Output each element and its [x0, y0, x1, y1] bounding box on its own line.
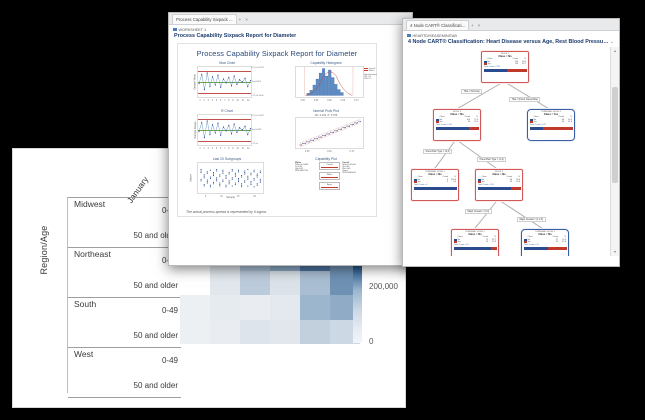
- worksheet-icon: [407, 34, 411, 38]
- x-tick-labels: 0.500.600.70: [296, 151, 363, 153]
- x-tick: 6: [220, 148, 221, 150]
- bar-segment-yes: [511, 187, 521, 191]
- node-distribution-bar: [414, 187, 457, 191]
- plot-area: Sample Range123456789101112UCL=0.0947R=0…: [197, 114, 252, 146]
- control-limit: LCL=0: [252, 143, 264, 145]
- tree-edge: [498, 199, 545, 230]
- control-limit: UCL=0.6787: [252, 67, 264, 69]
- node-distribution-bar: [436, 127, 479, 131]
- x-tick: 11: [242, 148, 244, 150]
- x-tick-labels: 123456789101112: [198, 148, 251, 150]
- x-tick: 15: [237, 196, 240, 198]
- control-limit: LCL=0.5000: [252, 95, 264, 97]
- bar-segment-yes: [491, 247, 496, 251]
- age-label-older: 50 and older: [134, 331, 178, 340]
- window-process-capability[interactable]: Process Capability Sixpack ... + × WORKS…: [168, 12, 413, 266]
- region-label: Midwest: [74, 199, 105, 209]
- control-limit: X=0.6000: [252, 81, 264, 83]
- heatmap-row-group-west: West0-4950 and older: [68, 347, 181, 398]
- heatmap-row-group-south: South0-4950 and older: [68, 297, 181, 347]
- x-tick: 2: [204, 148, 205, 150]
- node-total-count: Total Count = 142: [528, 124, 574, 126]
- heatmap-cell[interactable]: [180, 320, 210, 345]
- bar-segment-yes: [469, 127, 478, 131]
- control-limit: R=0.0448: [252, 129, 264, 131]
- bar-line: [321, 167, 338, 168]
- heatmap-y-axis-label: Region/Age: [39, 205, 49, 295]
- new-tab-button[interactable]: +: [237, 15, 244, 24]
- x-tick: 0.65: [341, 100, 345, 102]
- capability-report-card: Process Capability Sixpack Report for Di…: [177, 43, 377, 217]
- panel-title: Last 20 Subgroups: [188, 157, 266, 161]
- x-tick: 7: [224, 148, 225, 150]
- heatmap-cell[interactable]: [270, 320, 300, 345]
- plot-area: Sample Mean123456789101112UCL=0.6787X=0.…: [197, 66, 252, 98]
- node-class-table: ClassCount%No15054.3Yes12645.7: [482, 58, 528, 66]
- bar-label: Specs: [320, 184, 339, 186]
- worksheet-label: HEARTDISEASEMINITAB: [413, 34, 457, 38]
- heatmap-cell[interactable]: [240, 320, 270, 345]
- x-tick: 1: [199, 100, 200, 102]
- bar-segment-no: [484, 69, 507, 73]
- node-total-count: Total Count = 6: [412, 184, 458, 186]
- capability-bar-group: OverallWithinSpecs: [319, 162, 341, 192]
- x-tick: 5: [216, 148, 217, 150]
- x-tick: 3: [208, 148, 209, 150]
- cart-split-label: Chest Pain Type = (1,4): [477, 157, 506, 162]
- cart-header: 4 Node CART® Classification: Heart Disea…: [403, 39, 619, 47]
- tree-edge: [456, 81, 504, 110]
- heatmap-cell[interactable]: [300, 320, 330, 345]
- x-tick: 10: [220, 196, 223, 198]
- x-tick: 11: [242, 100, 244, 102]
- heatmap-cell[interactable]: [270, 271, 300, 296]
- node-distribution-bar: [484, 69, 527, 73]
- node-distribution-bar: [530, 127, 573, 131]
- scrollbar-thumb[interactable]: [612, 87, 618, 183]
- capability-bar-row: Overall: [319, 162, 341, 170]
- x-tick: 20: [253, 196, 256, 198]
- x-tick-labels: 0.500.550.600.650.70: [296, 100, 363, 102]
- panel-title: Normal Prob Plot: [286, 109, 366, 113]
- spec-row: USL 0.7: [364, 78, 378, 80]
- bar-line: [321, 177, 338, 178]
- bar-segment-yes: [507, 69, 527, 73]
- capability-panel-r-chart: R ChartSample Range123456789101112UCL=0.…: [188, 109, 266, 146]
- heatmap-colorbar: [353, 261, 362, 343]
- legend-entry: Within: [364, 70, 378, 72]
- node-distribution-bar: [454, 247, 497, 251]
- cart-worksheet-row: HEARTDISEASEMINITAB: [403, 31, 619, 39]
- heatmap-cell[interactable]: [210, 271, 240, 296]
- control-limit: UCL=0.0947: [252, 115, 264, 117]
- x-tick: 12: [247, 100, 250, 102]
- y-axis-label: Sample Range: [194, 121, 197, 138]
- heatmap-cell[interactable]: [300, 271, 330, 296]
- heatmap-cell[interactable]: [270, 295, 300, 320]
- cart-vertical-scrollbar[interactable]: ▴ ▾: [610, 47, 619, 256]
- node-class-table: ClassCount%No2757.4Yes2042.6: [522, 236, 568, 244]
- bar-segment-no: [524, 247, 549, 251]
- cart-node[interactable]: NODE 1Class = NoClassCount%No15054.3Yes1…: [481, 51, 529, 83]
- colorbar-high-label: 200,000: [369, 282, 398, 291]
- table-row: PPM 50063.06: [342, 172, 364, 174]
- cart-split-label: Major Vessels = (3,4): [465, 209, 492, 214]
- cart-header-title: 4 Node CART® Classification: Heart Disea…: [408, 39, 610, 45]
- scroll-down-arrow-icon[interactable]: ▾: [611, 248, 619, 256]
- scatter-series: [198, 163, 263, 193]
- x-tick: 0.55: [314, 100, 318, 102]
- x-tick: 10: [236, 148, 239, 150]
- probability-plot-series: [296, 118, 363, 148]
- age-label-older: 50 and older: [134, 381, 178, 390]
- close-tab-button[interactable]: ×: [476, 21, 483, 30]
- plot-area: 0.500.600.70: [295, 117, 364, 149]
- x-tick: 5: [205, 196, 206, 198]
- cart-split-label: Thal = (Normal): [461, 89, 482, 94]
- cart-split-label: Thal = (Fixed, Reversible): [509, 97, 540, 102]
- x-tick: 2: [204, 100, 205, 102]
- x-tick: 9: [232, 148, 233, 150]
- x-tick: 1: [199, 148, 200, 150]
- capability-header-title: Process Capability Sixpack Report for Di…: [174, 33, 296, 39]
- x-tick-labels: 5101520: [198, 196, 263, 198]
- control-chart-series: [198, 115, 251, 145]
- cart-node[interactable]: NODE 3Class = NoClassCount%No9876.6Yes30…: [475, 169, 523, 201]
- table-row: PPM 46375.41: [295, 170, 317, 172]
- cart-node[interactable]: TERMINAL NODE 1Class = NoClassCount%No61…: [411, 169, 459, 201]
- x-tick: 0.70: [350, 151, 354, 153]
- cart-tab-bar[interactable]: 4 Node CART® Classificati... + ×: [403, 19, 619, 31]
- node-total-count: Total Count = 81: [452, 244, 498, 246]
- bar-line: [321, 187, 338, 188]
- heatmap-cell[interactable]: [180, 271, 210, 296]
- region-label: Northeast: [74, 249, 111, 259]
- capability-bar-row: Specs: [319, 182, 341, 190]
- x-tick: 12: [247, 148, 250, 150]
- cart-body: NODE 1Class = NoClassCount%No15054.3Yes1…: [403, 47, 619, 256]
- capability-tab-bar[interactable]: Process Capability Sixpack ... + ×: [169, 13, 412, 25]
- x-tick: 0.60: [327, 100, 331, 102]
- cart-node[interactable]: TERMINAL NODE 2Class = NoClassCount%No71…: [451, 229, 499, 256]
- tab-process-capability[interactable]: Process Capability Sixpack ...: [172, 14, 237, 24]
- x-tick: 0.50: [300, 100, 304, 102]
- node-class-table: ClassCount%No7187.7Yes1012.3: [452, 236, 498, 244]
- capability-panel-capability-histogram: Capability Histogram0.500.550.600.650.70…: [286, 61, 366, 98]
- plot-area: 0.500.550.600.650.70 Overall WithinSpeci…: [295, 66, 364, 98]
- node-total-count: Total Count = 276: [482, 66, 528, 68]
- bar-segment-yes: [543, 127, 572, 131]
- x-tick-labels: 123456789101112: [198, 100, 251, 102]
- x-tick: 7: [224, 100, 225, 102]
- cart-node[interactable]: TERMINAL NODE 3Class = NoClassCount%No27…: [521, 229, 569, 256]
- node-distribution-bar: [524, 247, 567, 251]
- control-chart-series: [198, 67, 251, 97]
- new-tab-button[interactable]: +: [469, 21, 476, 30]
- x-tick: 8: [228, 100, 229, 102]
- heatmap-cell[interactable]: [210, 320, 240, 345]
- bar-segment-yes: [548, 247, 566, 251]
- age-label-young: 0-49: [162, 306, 178, 315]
- cart-split-label: Chest Pain Type = (2,3): [423, 149, 452, 154]
- control-limit-labels: UCL=0.0947R=0.0448LCL=0: [252, 115, 264, 145]
- capability-worksheet-row: WORKSHEET 1: [169, 25, 412, 33]
- cart-node[interactable]: NODE 2Class = NoClassCount%No10477.6Yes3…: [433, 109, 481, 141]
- heatmap-row-axis: Midwest0-4950 and olderNortheast0-4950 a…: [67, 197, 181, 393]
- heatmap-row-group-midwest: Midwest0-4950 and older: [68, 197, 181, 247]
- bar-segment-no: [414, 187, 457, 191]
- capability-header: Process Capability Sixpack Report for Di…: [169, 33, 412, 41]
- capability-body: Process Capability Sixpack Report for Di…: [169, 41, 412, 255]
- node-total-count: Total Count = 128: [476, 184, 522, 186]
- capability-plot-tables: WithinStDev 0.01043Cp 0.80Cpk 0.61PPM 46…: [295, 162, 364, 192]
- panel-title: Xbar Chart: [188, 61, 266, 65]
- control-limit-labels: UCL=0.6787X=0.6000LCL=0.5000: [252, 67, 264, 97]
- cart-node[interactable]: TERMINAL NODE 4Class = YesClassCount%No4…: [527, 109, 575, 141]
- capability-panel-normal-prob-plot: Normal Prob PlotAD: 0.232, P: 0.7560.500…: [286, 109, 366, 149]
- age-label-older: 50 and older: [134, 281, 178, 290]
- cart-split-label: Major Vessels = (1,2,3): [517, 217, 546, 222]
- chevron-down-icon[interactable]: ⌄: [610, 39, 614, 45]
- overall-stats-table: OverallStDev 0.01054Pp 0.80Ppk 0.60Cpm 1…: [342, 162, 364, 192]
- heatmap-cell[interactable]: [240, 295, 270, 320]
- plot-area: ValuesSample5101520: [197, 162, 264, 194]
- bar-label: Overall: [320, 164, 339, 166]
- node-class-table: ClassCount%No9876.6Yes3023.4: [476, 176, 522, 184]
- cart-tree-canvas[interactable]: NODE 1Class = NoClassCount%No15054.3Yes1…: [403, 47, 611, 256]
- x-tick: 0.70: [354, 100, 358, 102]
- heatmap-cell[interactable]: [180, 295, 210, 320]
- panel-title: Capability Histogram: [286, 61, 366, 65]
- tree-edge: [434, 139, 457, 170]
- x-tick: 6: [220, 100, 221, 102]
- within-stats-table: WithinStDev 0.01043Cp 0.80Cpk 0.61PPM 46…: [295, 162, 317, 192]
- heatmap-cell[interactable]: [240, 271, 270, 296]
- window-cart-classification[interactable]: 4 Node CART® Classificati... + × HEARTDI…: [402, 18, 620, 267]
- heatmap-cell[interactable]: [210, 295, 240, 320]
- tree-edge: [456, 139, 499, 170]
- worksheet-label: WORKSHEET 1: [179, 28, 207, 32]
- scroll-up-arrow-icon[interactable]: ▴: [611, 47, 619, 55]
- bar-label: Within: [320, 174, 339, 176]
- plot-area: WithinStDev 0.01043Cp 0.80Cpk 0.61PPM 46…: [295, 162, 364, 192]
- capability-bar-row: Within: [319, 172, 341, 180]
- x-tick: 0.60: [327, 151, 331, 153]
- x-tick: 4: [212, 148, 213, 150]
- node-distribution-bar: [478, 187, 521, 191]
- node-class-table: ClassCount%No10477.6Yes3022.4: [434, 116, 480, 124]
- histogram-series: [296, 67, 363, 97]
- x-tick: 10: [236, 100, 239, 102]
- y-axis-label: Sample Mean: [194, 74, 197, 90]
- capability-panel-xbar-chart: Xbar ChartSample Mean123456789101112UCL=…: [188, 61, 266, 98]
- bar-segment-no: [530, 127, 544, 131]
- heatmap-row-group-northeast: Northeast0-4950 and older: [68, 247, 181, 297]
- age-label-young: 0-49: [162, 356, 178, 365]
- colorbar-low-label: 0: [369, 337, 373, 346]
- panel-title: R Chart: [188, 109, 266, 113]
- y-axis-label: Values: [189, 174, 192, 182]
- heatmap-cell[interactable]: [300, 295, 330, 320]
- tab-cart-classification[interactable]: 4 Node CART® Classificati...: [406, 20, 469, 30]
- x-tick: 0.50: [305, 151, 309, 153]
- bar-segment-no: [436, 127, 470, 131]
- bar-segment-no: [478, 187, 511, 191]
- bar-segment-no: [454, 247, 492, 251]
- tree-edge: [504, 81, 551, 110]
- node-total-count: Total Count = 47: [522, 244, 568, 246]
- region-label: West: [74, 349, 93, 359]
- x-tick: 5: [216, 100, 217, 102]
- node-class-table: ClassCount%No6100.0Yes00.0: [412, 176, 458, 184]
- x-tick: 3: [208, 100, 209, 102]
- capability-footnote: The actual process spread is represented…: [186, 210, 267, 214]
- node-total-count: Total Count = 134: [434, 124, 480, 126]
- histogram-legend: Overall WithinSpecificationsLSL 0.5USL 0…: [364, 68, 378, 80]
- capability-report-title: Process Capability Sixpack Report for Di…: [178, 44, 376, 58]
- capability-panel-last-20-subgroups: Last 20 SubgroupsValuesSample5101520: [188, 157, 266, 194]
- tree-edge: [474, 199, 499, 230]
- region-label: South: [74, 299, 96, 309]
- panel-title: Capability Plot: [286, 157, 366, 161]
- node-class-table: ClassCount%No4632.4Yes9667.6: [528, 116, 574, 124]
- worksheet-icon: [173, 28, 177, 32]
- x-tick: 9: [232, 100, 233, 102]
- close-tab-button[interactable]: ×: [243, 15, 250, 24]
- x-tick: 8: [228, 148, 229, 150]
- x-tick: 4: [212, 100, 213, 102]
- capability-panel-capability-plot: Capability PlotWithinStDev 0.01043Cp 0.8…: [286, 157, 366, 192]
